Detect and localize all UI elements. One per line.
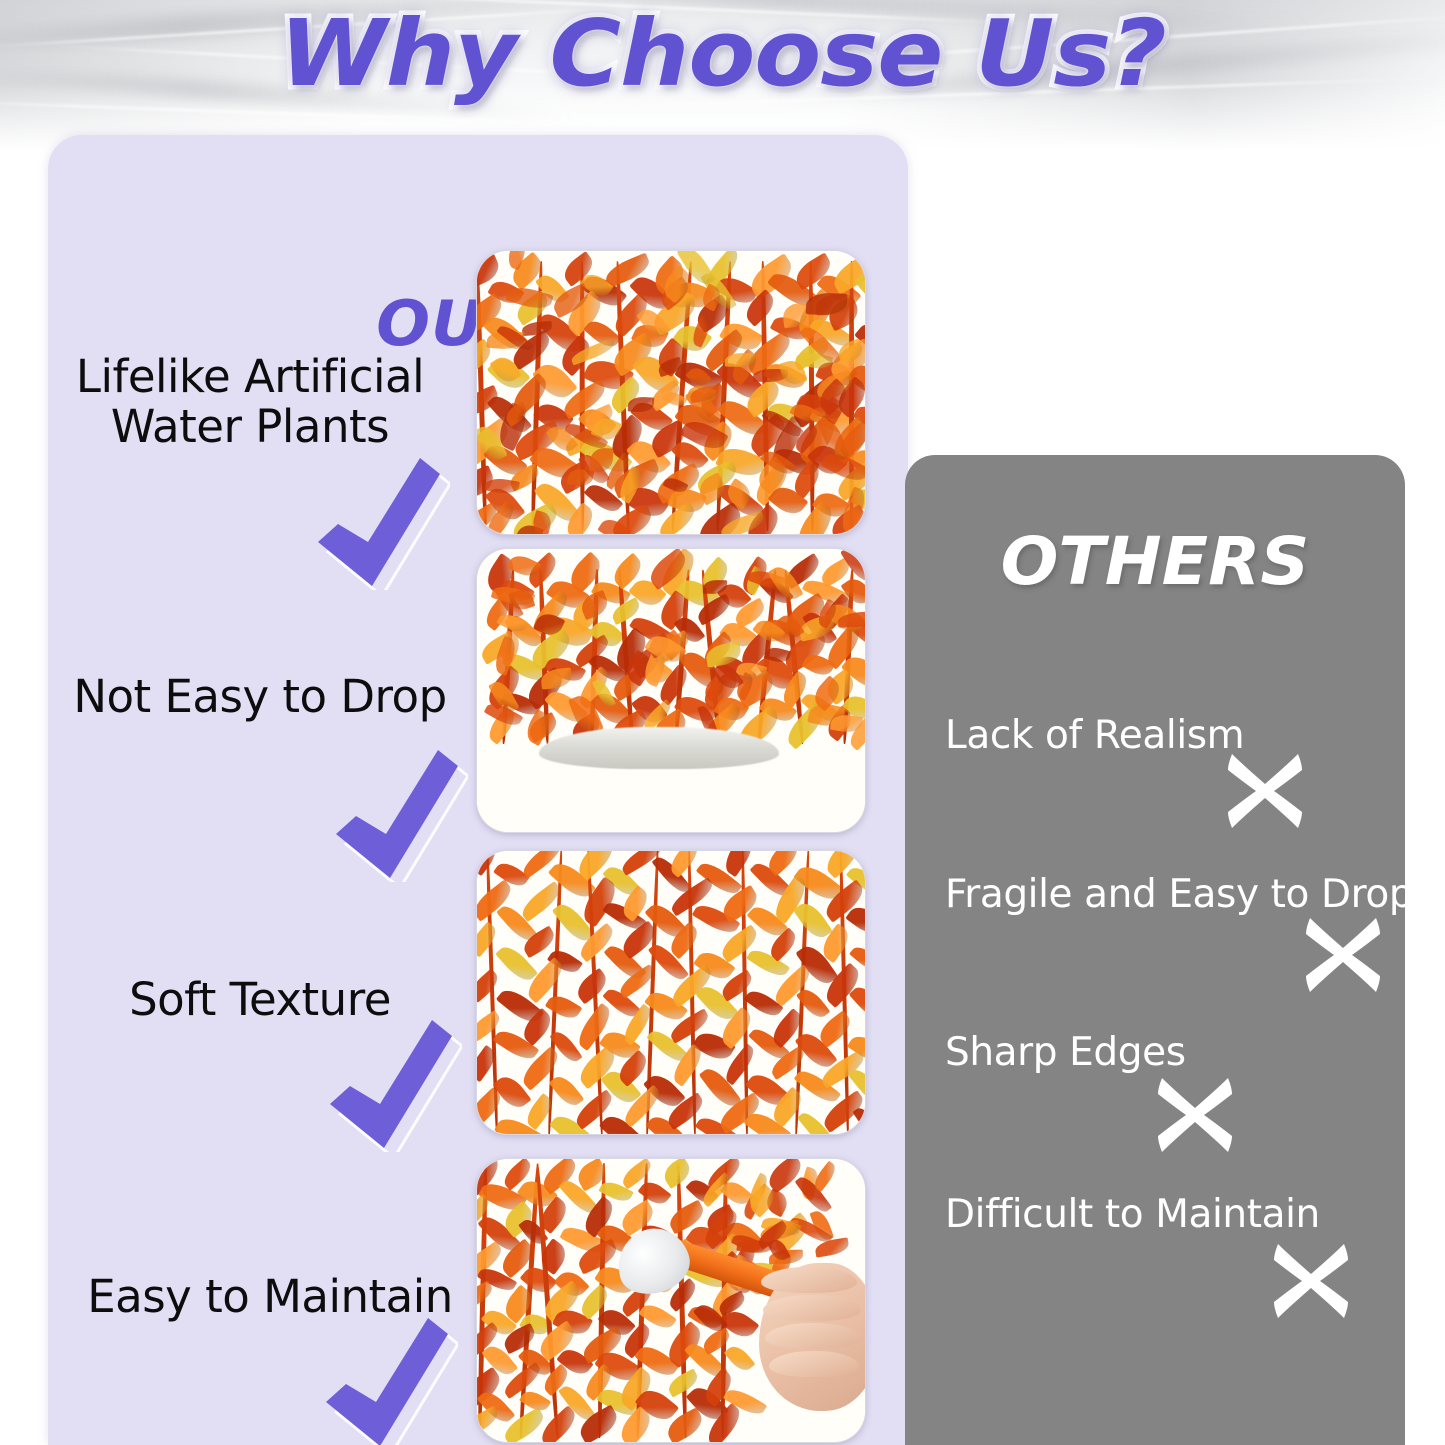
ours-label-1: Lifelike Artificial Water Plants xyxy=(60,352,440,453)
infographic-canvas: Why Choose Us? OURS Lifelike Artificial … xyxy=(0,0,1445,1445)
photo-soft-texture xyxy=(476,850,866,1135)
others-label-2: Fragile and Easy to Drop xyxy=(945,872,1413,917)
page-title: Why Choose Us? xyxy=(0,6,1445,103)
others-heading: OTHERS xyxy=(898,523,1413,600)
photo-weighted-base xyxy=(476,548,866,833)
others-label-4: Difficult to Maintain xyxy=(945,1192,1320,1237)
check-icon xyxy=(300,450,450,590)
cross-icon xyxy=(1152,1072,1238,1158)
others-label-1: Lack of Realism xyxy=(945,713,1244,758)
cross-icon xyxy=(1268,1238,1354,1324)
check-icon xyxy=(318,742,468,882)
cross-icon xyxy=(1300,912,1386,998)
photo-easy-maintain xyxy=(476,1158,866,1443)
photo-lifelike-plants xyxy=(476,250,866,535)
cross-icon xyxy=(1222,748,1308,834)
check-icon xyxy=(308,1310,458,1445)
check-icon xyxy=(312,1012,462,1152)
ours-label-2: Not Easy to Drop xyxy=(60,672,460,722)
others-label-3: Sharp Edges xyxy=(945,1030,1186,1075)
